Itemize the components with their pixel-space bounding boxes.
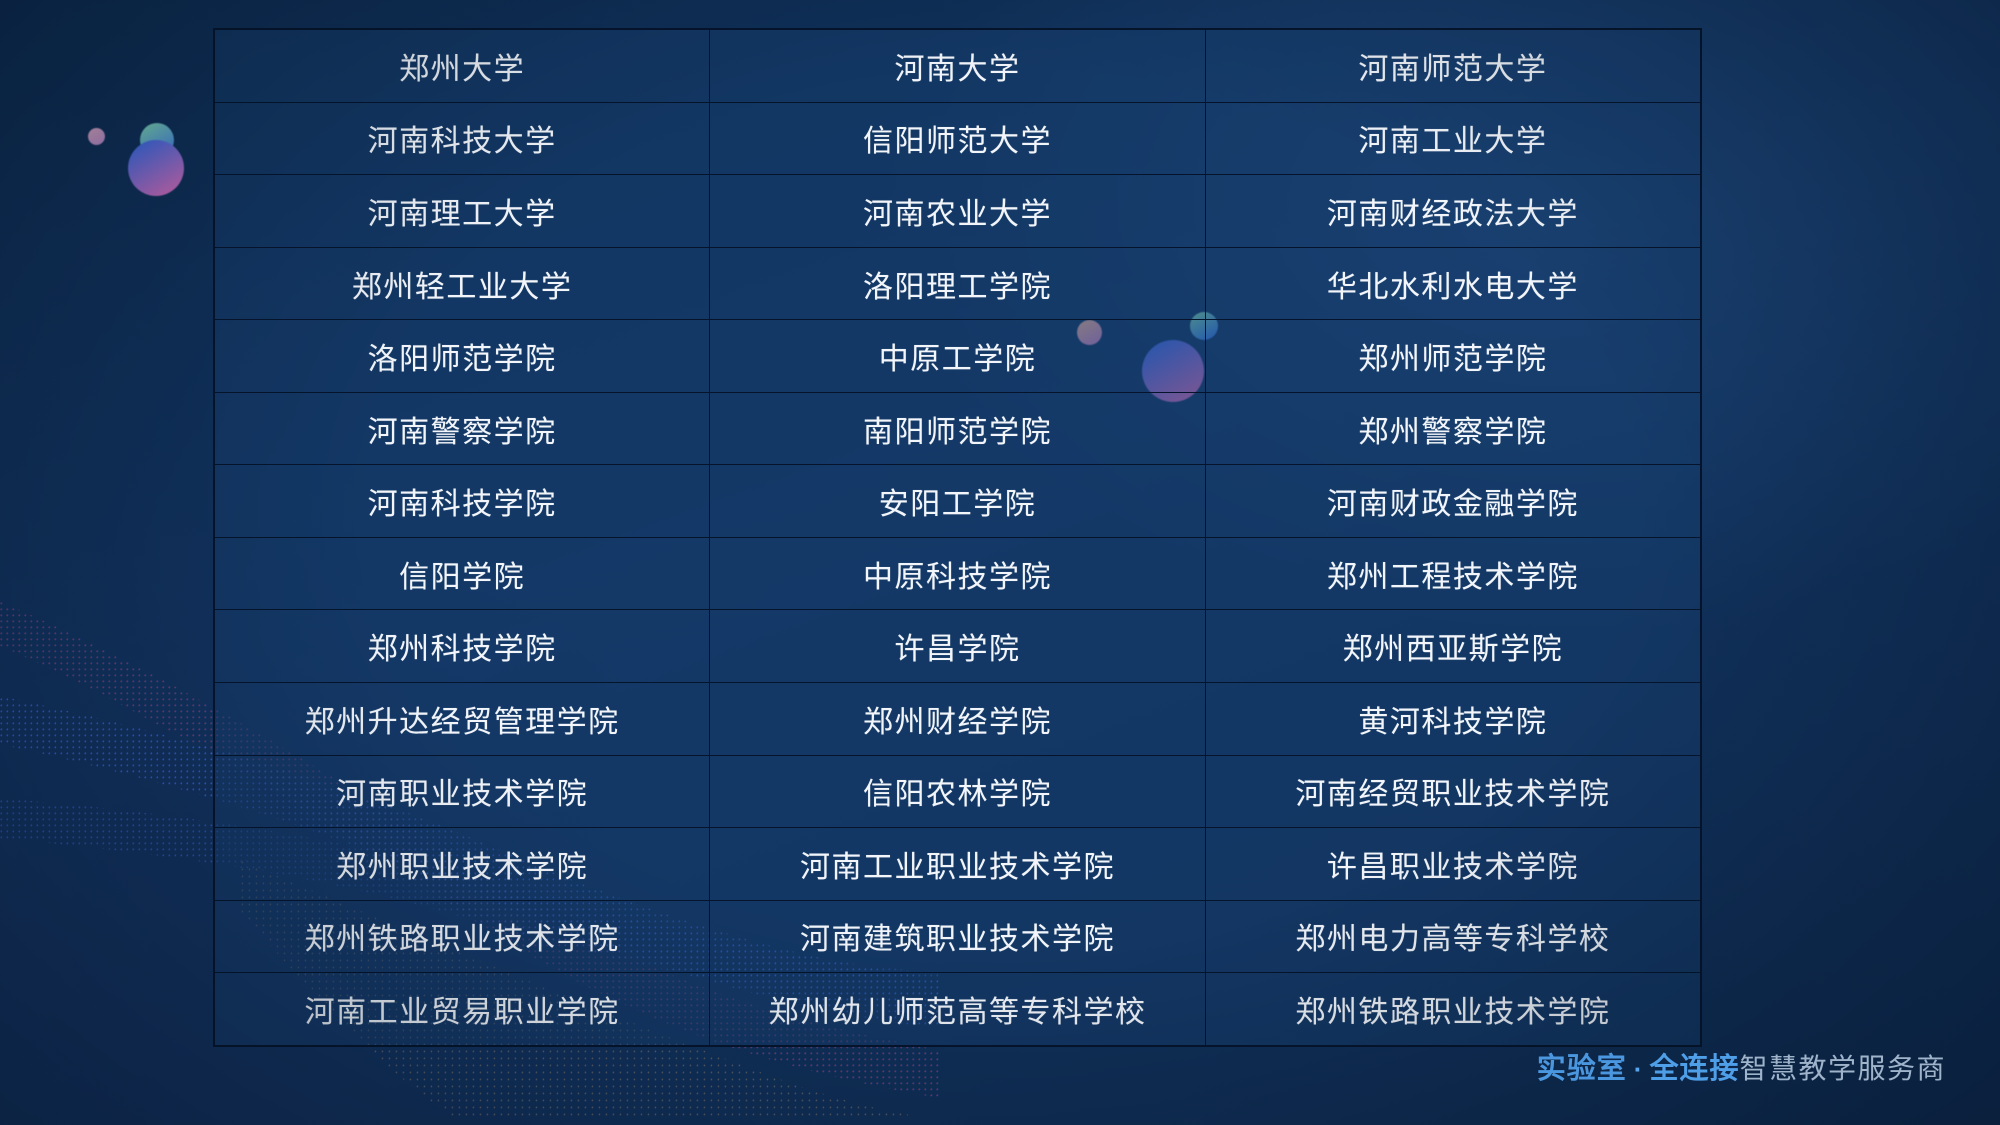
school-name-cell: 河南农业大学 <box>710 175 1206 248</box>
table-row: 河南工业贸易职业学院郑州幼儿师范高等专科学校郑州铁路职业技术学院 <box>214 973 1701 1046</box>
school-name-cell: 郑州师范学院 <box>1205 320 1701 393</box>
table-row: 河南警察学院南阳师范学院郑州警察学院 <box>214 392 1701 465</box>
school-name-cell: 郑州升达经贸管理学院 <box>214 682 710 755</box>
table-row: 郑州轻工业大学洛阳理工学院华北水利水电大学 <box>214 247 1701 320</box>
school-name-cell: 洛阳师范学院 <box>214 320 710 393</box>
school-name-cell: 许昌职业技术学院 <box>1205 828 1701 901</box>
table-row: 洛阳师范学院中原工学院郑州师范学院 <box>214 320 1701 393</box>
school-name-cell: 河南财政金融学院 <box>1205 465 1701 538</box>
table-row: 河南理工大学河南农业大学河南财经政法大学 <box>214 175 1701 248</box>
school-name-cell: 郑州电力高等专科学校 <box>1205 900 1701 973</box>
table-row: 河南科技大学信阳师范大学河南工业大学 <box>214 102 1701 175</box>
school-name-cell: 信阳师范大学 <box>710 102 1206 175</box>
school-name-cell: 河南警察学院 <box>214 392 710 465</box>
school-name-cell: 郑州幼儿师范高等专科学校 <box>710 973 1206 1046</box>
school-name-cell: 南阳师范学院 <box>710 392 1206 465</box>
table-row: 郑州科技学院许昌学院郑州西亚斯学院 <box>214 610 1701 683</box>
school-name-cell: 河南建筑职业技术学院 <box>710 900 1206 973</box>
school-list-table-container: 郑州大学河南大学河南师范大学河南科技大学信阳师范大学河南工业大学河南理工大学河南… <box>213 28 1702 1047</box>
school-name-cell: 华北水利水电大学 <box>1205 247 1701 320</box>
school-name-cell: 信阳农林学院 <box>710 755 1206 828</box>
school-name-cell: 河南经贸职业技术学院 <box>1205 755 1701 828</box>
table-row: 信阳学院中原科技学院郑州工程技术学院 <box>214 537 1701 610</box>
table-row: 郑州铁路职业技术学院河南建筑职业技术学院郑州电力高等专科学校 <box>214 900 1701 973</box>
school-name-cell: 黄河科技学院 <box>1205 682 1701 755</box>
table-row: 郑州升达经贸管理学院郑州财经学院黄河科技学院 <box>214 682 1701 755</box>
school-name-cell: 河南科技学院 <box>214 465 710 538</box>
school-name-cell: 郑州职业技术学院 <box>214 828 710 901</box>
school-name-cell: 郑州铁路职业技术学院 <box>214 900 710 973</box>
school-name-cell: 河南财经政法大学 <box>1205 175 1701 248</box>
school-name-cell: 郑州轻工业大学 <box>214 247 710 320</box>
school-name-cell: 河南职业技术学院 <box>214 755 710 828</box>
table-row: 郑州大学河南大学河南师范大学 <box>214 29 1701 102</box>
school-name-cell: 河南大学 <box>710 29 1206 102</box>
school-name-cell: 郑州西亚斯学院 <box>1205 610 1701 683</box>
school-name-cell: 河南理工大学 <box>214 175 710 248</box>
school-name-cell: 郑州警察学院 <box>1205 392 1701 465</box>
school-list-table: 郑州大学河南大学河南师范大学河南科技大学信阳师范大学河南工业大学河南理工大学河南… <box>213 28 1702 1047</box>
school-name-cell: 许昌学院 <box>710 610 1206 683</box>
school-name-cell: 中原科技学院 <box>710 537 1206 610</box>
school-name-cell: 河南工业贸易职业学院 <box>214 973 710 1046</box>
school-name-cell: 河南工业大学 <box>1205 102 1701 175</box>
school-name-cell: 河南师范大学 <box>1205 29 1701 102</box>
school-name-cell: 郑州财经学院 <box>710 682 1206 755</box>
table-row: 河南职业技术学院信阳农林学院河南经贸职业技术学院 <box>214 755 1701 828</box>
school-name-cell: 郑州科技学院 <box>214 610 710 683</box>
bubble-large-blue <box>128 140 184 196</box>
school-name-cell: 郑州工程技术学院 <box>1205 537 1701 610</box>
school-name-cell: 洛阳理工学院 <box>710 247 1206 320</box>
school-name-cell: 郑州大学 <box>214 29 710 102</box>
school-name-cell: 中原工学院 <box>710 320 1206 393</box>
table-row: 河南科技学院安阳工学院河南财政金融学院 <box>214 465 1701 538</box>
school-name-cell: 河南科技大学 <box>214 102 710 175</box>
school-name-cell: 信阳学院 <box>214 537 710 610</box>
bubble-small-pink <box>88 128 105 145</box>
school-name-cell: 郑州铁路职业技术学院 <box>1205 973 1701 1046</box>
school-name-cell: 河南工业职业技术学院 <box>710 828 1206 901</box>
table-row: 郑州职业技术学院河南工业职业技术学院许昌职业技术学院 <box>214 828 1701 901</box>
school-name-cell: 安阳工学院 <box>710 465 1206 538</box>
